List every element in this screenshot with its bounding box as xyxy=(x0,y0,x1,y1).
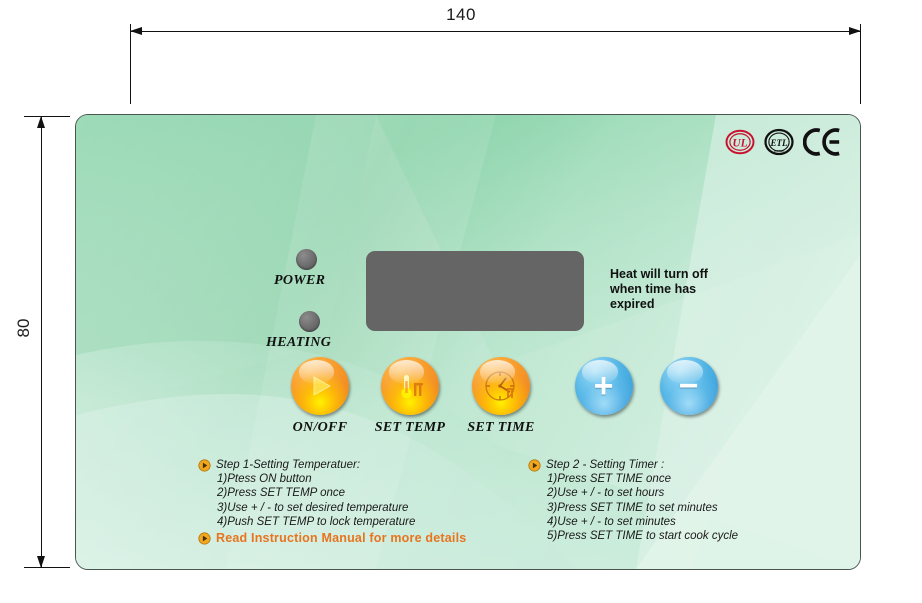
bullet-play-icon xyxy=(528,459,541,472)
play-triangle-icon xyxy=(291,357,349,415)
arrow-left-icon xyxy=(130,27,142,35)
plus-glyph: + xyxy=(594,369,614,403)
button-row: ON/OFF SET TEMP xyxy=(76,357,860,457)
step2-item: 5)Press SET TIME to start cook cycle xyxy=(547,529,818,543)
extension-line-top-right xyxy=(860,24,861,104)
width-dimension-label: 140 xyxy=(0,5,922,25)
height-dimension-line xyxy=(41,116,42,568)
power-led-label: POWER xyxy=(274,273,325,289)
thermometer-icon xyxy=(381,357,439,415)
minus-button[interactable]: − xyxy=(616,357,761,415)
bullet-play-icon xyxy=(198,532,211,545)
step1-column: Step 1-Setting Temperatuer: 1)Ptess ON b… xyxy=(198,458,498,545)
height-dimension-label: 80 xyxy=(14,298,34,358)
warning-line-1: Heat will turn off xyxy=(610,267,755,282)
set-time-orb[interactable] xyxy=(472,357,530,415)
set-temp-button[interactable]: SET TEMP xyxy=(360,357,460,436)
svg-text:LISTED: LISTED xyxy=(774,149,785,153)
warning-line-2: when time has xyxy=(610,282,755,297)
step2-heading-row: Step 2 - Setting Timer : xyxy=(528,458,818,472)
bullet-play-icon xyxy=(198,459,211,472)
heating-led-label: HEATING xyxy=(266,335,331,351)
ul-mark-icon: UL xyxy=(725,127,755,157)
certification-marks: UL ETL LISTED xyxy=(725,127,842,157)
width-dimension-line xyxy=(130,31,861,32)
warning-note: Heat will turn off when time has expired xyxy=(610,267,755,312)
step1-item: 4)Push SET TEMP to lock temperature xyxy=(217,515,498,529)
extension-line-left-top xyxy=(24,116,70,117)
arrow-right-icon xyxy=(849,27,861,35)
heating-led-icon xyxy=(299,311,320,332)
step2-item: 3)Press SET TIME to set minutes xyxy=(547,501,818,515)
step1-steps: 1)Ptess ON button 2)Press SET TEMP once … xyxy=(217,472,498,529)
step1-item: 3)Use + / - to set desired temperature xyxy=(217,501,498,515)
minus-orb[interactable]: − xyxy=(660,357,718,415)
set-temp-orb[interactable] xyxy=(381,357,439,415)
clock-icon xyxy=(472,357,530,415)
step2-item: 2)Use + / - to set hours xyxy=(547,486,818,500)
minus-icon: − xyxy=(660,357,718,415)
svg-text:ETL: ETL xyxy=(770,138,789,148)
step2-heading: Step 2 - Setting Timer : xyxy=(546,458,664,472)
step1-item: 1)Ptess ON button xyxy=(217,472,498,486)
step2-item: 1)Press SET TIME once xyxy=(547,472,818,486)
read-manual-label: Read Instruction Manual for more details xyxy=(216,531,466,545)
step2-item: 4)Use + / - to set minutes xyxy=(547,515,818,529)
read-manual-cta[interactable]: Read Instruction Manual for more details xyxy=(198,531,498,545)
arrow-up-icon xyxy=(37,116,45,128)
ce-mark-icon xyxy=(803,127,842,157)
power-indicator: POWER xyxy=(288,249,325,289)
step1-item: 2)Press SET TEMP once xyxy=(217,486,498,500)
etl-mark-icon: ETL LISTED xyxy=(764,127,794,157)
step2-column: Step 2 - Setting Timer : 1)Press SET TIM… xyxy=(528,458,818,543)
svg-text:UL: UL xyxy=(733,138,748,150)
power-led-icon xyxy=(296,249,317,270)
warning-line-3: expired xyxy=(610,297,755,312)
arrow-down-icon xyxy=(37,556,45,568)
on-off-button[interactable]: ON/OFF xyxy=(275,357,365,436)
step1-heading: Step 1-Setting Temperatuer: xyxy=(216,458,360,472)
set-temp-label: SET TEMP xyxy=(360,420,460,436)
lcd-display xyxy=(366,251,584,331)
on-off-label: ON/OFF xyxy=(275,420,365,436)
extension-line-top-left xyxy=(130,24,131,104)
extension-line-left-bottom xyxy=(24,567,70,568)
heating-indicator: HEATING xyxy=(288,311,331,351)
step2-steps: 1)Press SET TIME once 2)Use + / - to set… xyxy=(547,472,818,543)
set-time-label: SET TIME xyxy=(451,420,551,436)
minus-glyph: − xyxy=(679,369,699,403)
on-off-orb[interactable] xyxy=(291,357,349,415)
step1-heading-row: Step 1-Setting Temperatuer: xyxy=(198,458,498,472)
control-panel: UL ETL LISTED POWER HEATING Heat will tu… xyxy=(75,114,861,570)
